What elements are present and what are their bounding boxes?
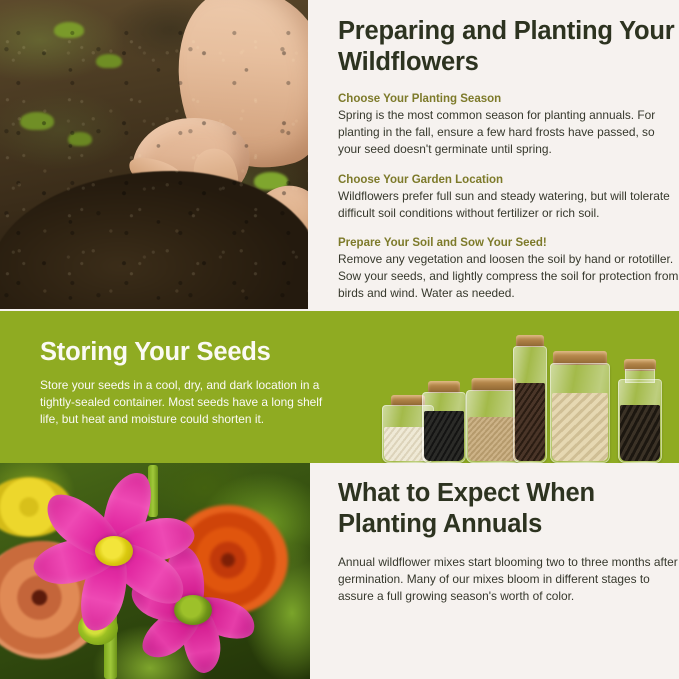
seed-fill <box>515 383 545 461</box>
body-garden-location: Wildflowers prefer full sun and steady w… <box>338 188 679 222</box>
seed-fill <box>552 393 608 461</box>
body-planting-season: Spring is the most common season for pla… <box>338 107 679 159</box>
seed-fill <box>468 417 519 461</box>
seed-jar <box>550 351 610 463</box>
body-prepare-soil: Remove any vegetation and loosen the soi… <box>338 251 679 303</box>
seed-fill <box>424 411 464 461</box>
seed-jar <box>618 359 662 463</box>
body-storing: Store your seeds in a cool, dry, and dar… <box>40 377 340 429</box>
seed-fill <box>620 405 660 461</box>
zinnia-flowers-photo <box>0 463 310 679</box>
section-what-to-expect-text-column: What to Expect When Planting Annuals Ann… <box>338 463 679 606</box>
subheading-garden-location: Choose Your Garden Location <box>338 172 679 188</box>
soil-texture <box>0 0 308 309</box>
block-prepare-soil: Prepare Your Soil and Sow Your Seed! Rem… <box>338 235 679 303</box>
section-storing-text-column: Storing Your Seeds Store your seeds in a… <box>40 337 340 429</box>
body-what-to-expect: Annual wildflower mixes start blooming t… <box>338 554 679 606</box>
infographic-page: Preparing and Planting Your Wildflowers … <box>0 0 679 679</box>
subheading-planting-season: Choose Your Planting Season <box>338 91 679 107</box>
seed-jars-photo <box>378 323 668 463</box>
subheading-prepare-soil: Prepare Your Soil and Sow Your Seed! <box>338 235 679 251</box>
block-garden-location: Choose Your Garden Location Wildflowers … <box>338 172 679 222</box>
glass-body <box>422 392 466 463</box>
page-title: Preparing and Planting Your Wildflowers <box>338 16 679 78</box>
section-title-what-to-expect: What to Expect When Planting Annuals <box>338 478 679 540</box>
section-preparing-and-planting: Preparing and Planting Your Wildflowers … <box>0 0 679 311</box>
seed-jar <box>513 335 547 463</box>
section-storing-your-seeds: Storing Your Seeds Store your seeds in a… <box>0 311 679 463</box>
main-pink-cosmos <box>16 481 212 621</box>
section-preparing-text-column: Preparing and Planting Your Wildflowers … <box>338 0 679 311</box>
section-title-storing: Storing Your Seeds <box>40 337 340 368</box>
hand-planting-seeds-photo <box>0 0 308 309</box>
glass-body <box>550 363 610 463</box>
flower-center <box>95 536 133 566</box>
block-planting-season: Choose Your Planting Season Spring is th… <box>338 91 679 159</box>
glass-body <box>618 379 662 463</box>
glass-body <box>513 346 547 463</box>
seed-jar <box>422 381 466 463</box>
section-what-to-expect: What to Expect When Planting Annuals Ann… <box>0 463 679 679</box>
